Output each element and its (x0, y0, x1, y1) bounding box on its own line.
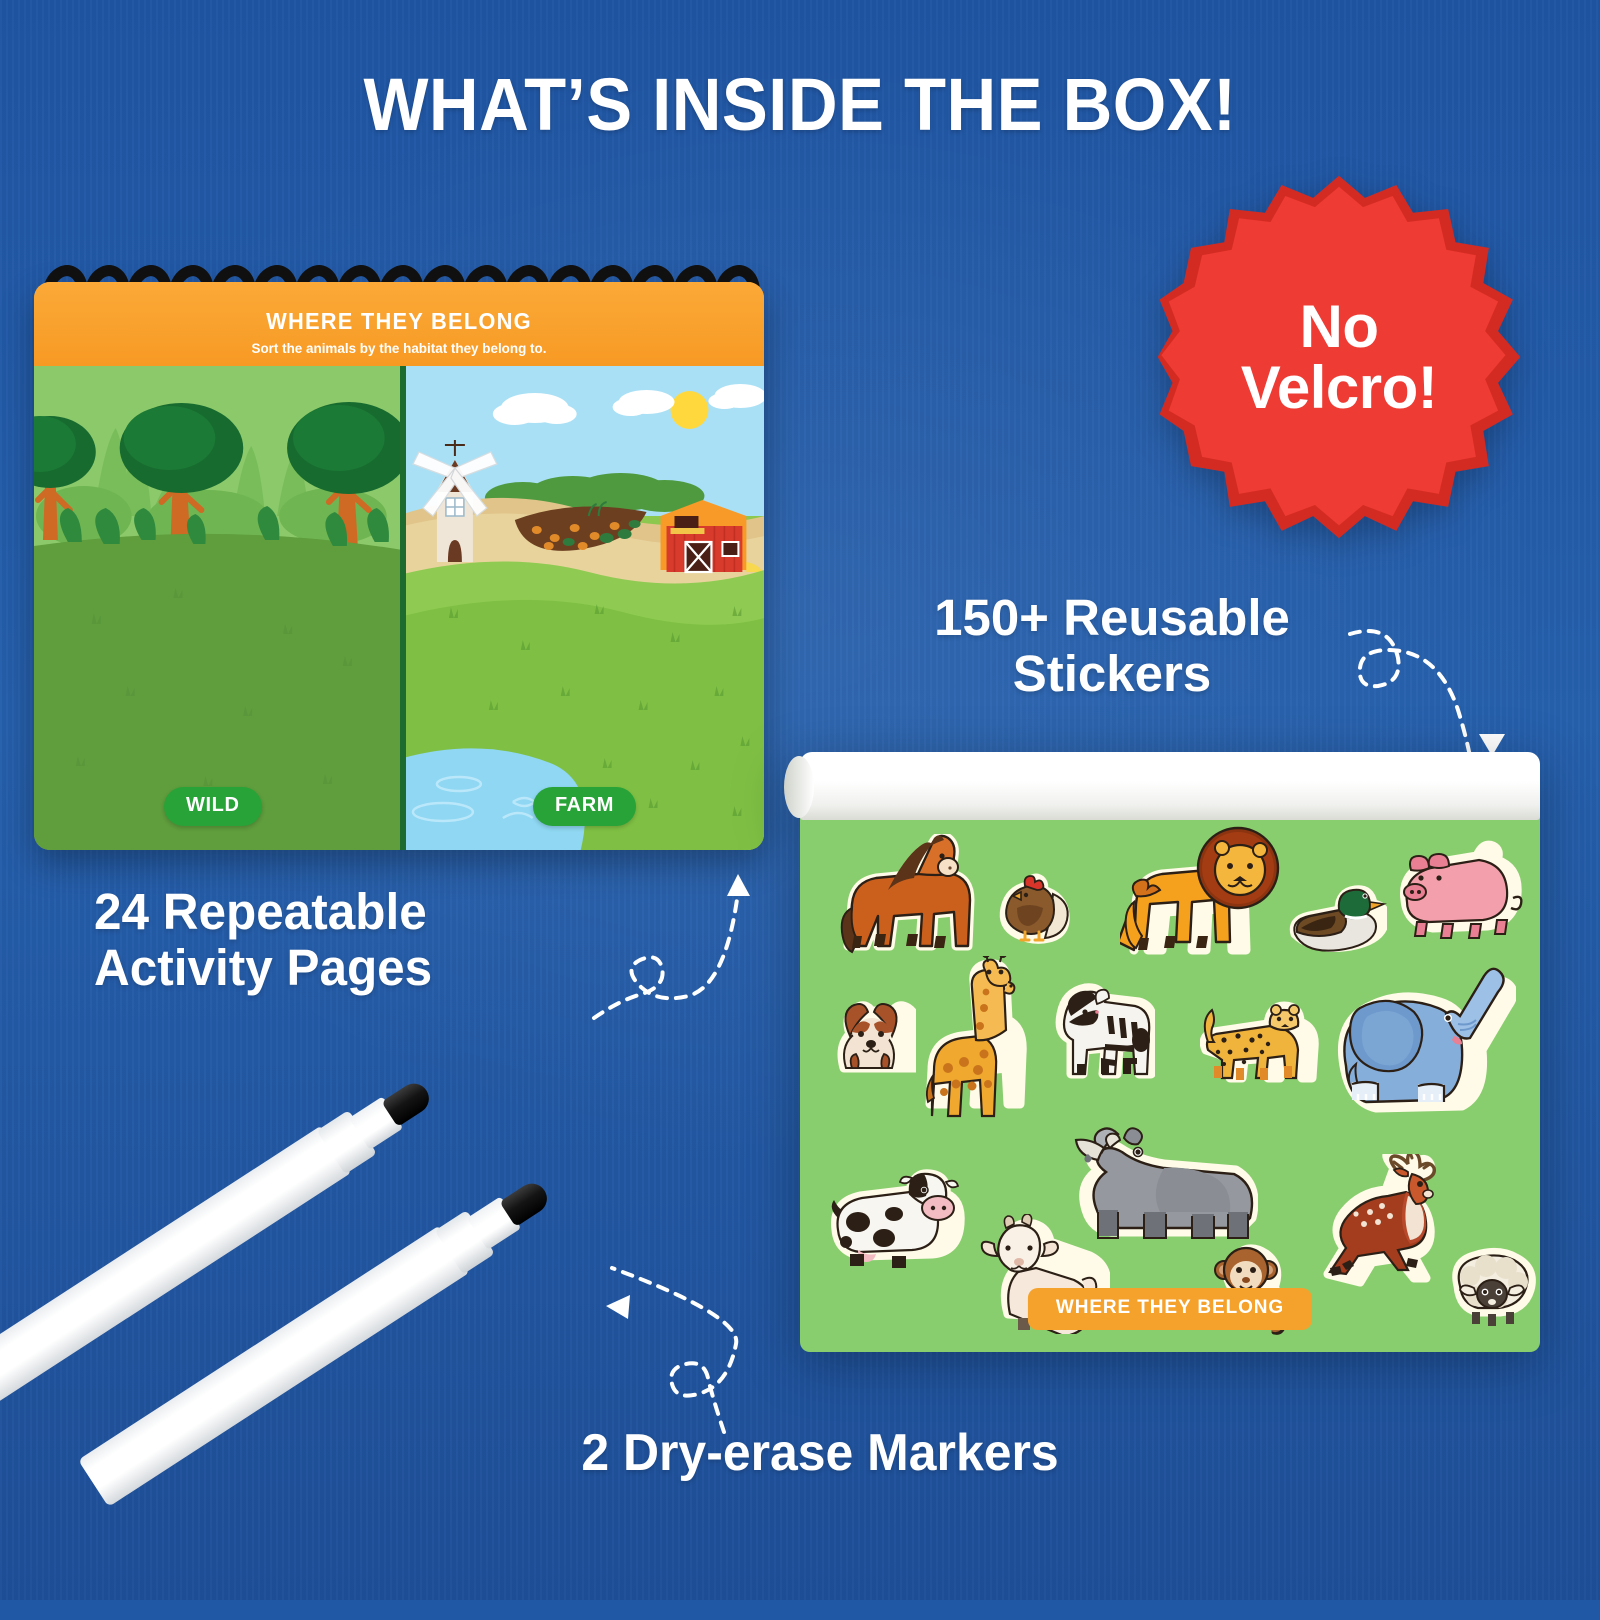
sticker-deer[interactable] (1320, 1154, 1460, 1288)
no-velcro-badge: No Velcro! (1154, 168, 1524, 546)
sticker-chicken[interactable] (995, 868, 1073, 948)
stickers-line-2: Stickers (862, 646, 1362, 702)
jungle-scene-illustration (34, 366, 403, 850)
farm-label-pill: FARM (533, 787, 636, 826)
sticker-dog[interactable] (830, 988, 916, 1080)
activity-book-header: WHERE THEY BELONG Sort the animals by th… (34, 282, 764, 366)
sticker-pig[interactable] (1395, 840, 1525, 940)
sticker-lion[interactable] (1120, 824, 1290, 969)
curly-arrow-to-pages-icon (588, 846, 778, 1036)
activity-page-area: WILD (34, 366, 764, 850)
feature-label-stickers: 150+ Reusable Stickers (862, 590, 1362, 702)
page-divider (400, 366, 406, 850)
sticker-sheet-curled-edge (800, 752, 1540, 820)
dry-erase-markers[interactable] (0, 1060, 640, 1620)
pages-line-1: 24 Repeatable (94, 884, 598, 940)
sticker-giraffe[interactable] (922, 956, 1034, 1126)
badge-line-2: Velcro! (1241, 357, 1438, 418)
sticker-sheet-label: WHERE THEY BELONG (1028, 1288, 1312, 1330)
wild-habitat-panel[interactable]: WILD (34, 366, 403, 850)
sticker-horse[interactable] (832, 834, 980, 966)
sticker-sheep[interactable] (1448, 1242, 1540, 1326)
feature-label-pages: 24 Repeatable Activity Pages (94, 884, 598, 996)
sticker-zebra[interactable] (1045, 978, 1155, 1088)
no-velcro-text: No Velcro! (1241, 296, 1438, 418)
farm-habitat-panel[interactable]: FARM (403, 366, 764, 850)
stickers-line-1: 150+ Reusable (862, 590, 1362, 646)
activity-book-subtitle: Sort the animals by the habitat they bel… (49, 340, 750, 356)
activity-book-title: WHERE THEY BELONG (52, 308, 746, 335)
sticker-cow[interactable] (828, 1168, 968, 1278)
sticker-cheetah[interactable] (1200, 994, 1320, 1090)
sticker-sheet[interactable]: WHERE THEY BELONG (800, 752, 1540, 1352)
curly-arrow-to-stickers-icon (1340, 596, 1550, 776)
activity-book[interactable]: WHERE THEY BELONG Sort the animals by th… (34, 282, 764, 850)
page-title: WHAT’S INSIDE THE BOX! (56, 62, 1544, 147)
wild-label-pill: WILD (164, 787, 262, 826)
sticker-duck[interactable] (1287, 878, 1387, 958)
farm-scene-illustration (403, 366, 764, 850)
pages-line-2: Activity Pages (94, 940, 598, 996)
sticker-sheet-body: WHERE THEY BELONG (800, 816, 1540, 1352)
badge-line-1: No (1241, 296, 1438, 357)
sticker-elephant[interactable] (1330, 966, 1516, 1128)
